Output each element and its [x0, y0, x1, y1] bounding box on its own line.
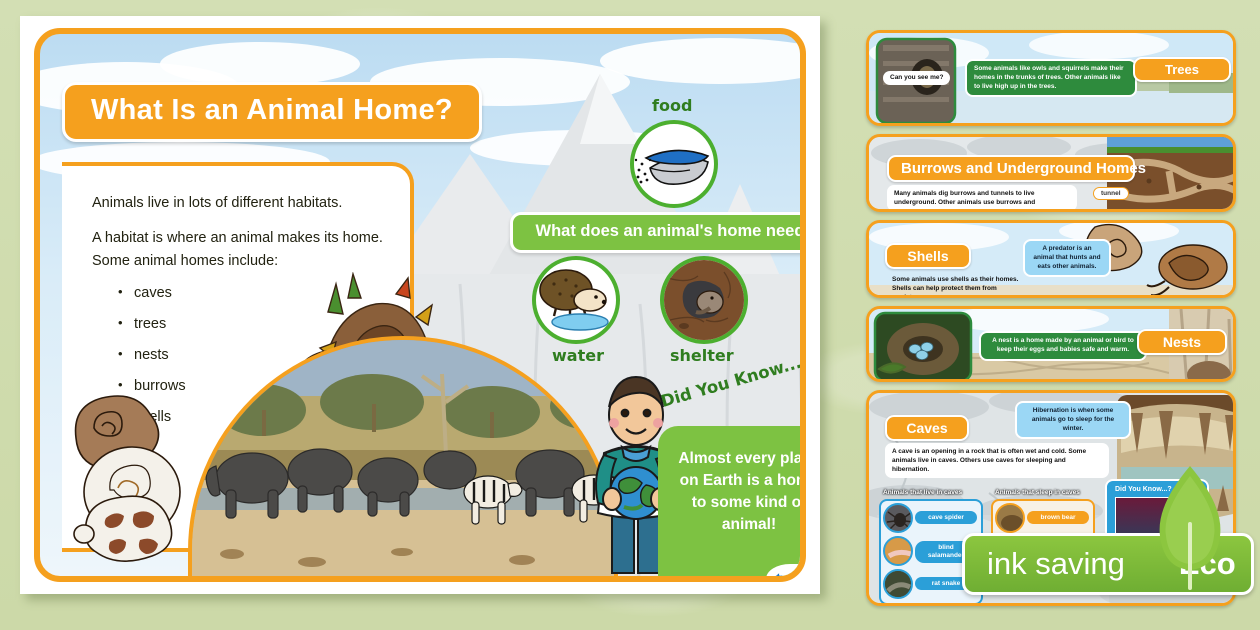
definition-predator: A predator is an animal that hunts and e… — [1023, 239, 1111, 277]
eco-ink-label: ink saving — [987, 546, 1125, 582]
hedgehog-drinking-icon — [536, 260, 616, 340]
need-label-food: food — [652, 96, 692, 115]
animal-photo-cave-spider — [883, 503, 913, 533]
mole-burrow-icon — [664, 260, 744, 340]
did-you-know-text: Almost every place on Earth is a home to… — [678, 450, 806, 533]
thumbnail-card-shells[interactable]: Shells Some animals use shells as their … — [866, 220, 1236, 298]
animal-photo-brown-bear — [995, 503, 1025, 533]
shells-illustration — [58, 386, 208, 576]
needs-heading: What does an animal's home need? — [510, 212, 806, 253]
main-poster: What Is an Animal Home? Animals live in … — [20, 16, 820, 594]
thumbnail-body-trees: Some animals like owls and squirrels mak… — [965, 59, 1137, 97]
thumbnail-title-caves: Caves — [885, 415, 969, 441]
thumbnail-title-burrows: Burrows and Underground Homes — [887, 155, 1135, 182]
animal-label-cave-spider: cave spider — [915, 511, 977, 524]
column-heading-live-in-caves: Animals that live in caves — [883, 489, 962, 496]
callout-tunnel: tunnel — [1093, 187, 1129, 200]
thumbnail-body-burrows: Many animals dig burrows and tunnels to … — [887, 185, 1077, 211]
thumbnail-body-caves: A cave is an opening in a rock that is o… — [885, 443, 1109, 478]
thumbnail-title-trees: Trees — [1133, 57, 1231, 82]
need-circle-water — [532, 256, 620, 344]
column-heading-sleep-in-caves: Animals that sleep in caves — [995, 489, 1080, 496]
thumbnail-card-nests[interactable]: A nest is a home made by an animal or bi… — [866, 306, 1236, 382]
animal-photo-rat-snake — [883, 569, 913, 599]
thumbnail-card-burrows[interactable]: Burrows and Underground Homes Many anima… — [866, 134, 1236, 212]
page-title: What Is an Animal Home? — [62, 82, 482, 142]
animal-label-brown-bear: brown bear — [1027, 511, 1089, 524]
need-circle-food — [630, 120, 718, 208]
definition-hibernation: Hibernation is when some animals go to s… — [1015, 401, 1131, 439]
leaf-icon — [1152, 462, 1228, 592]
poster-content-frame: What Is an Animal Home? Animals live in … — [34, 28, 806, 582]
intro-paragraph-1: Animals live in lots of different habita… — [92, 192, 394, 214]
animal-photo-blind-salamander — [883, 536, 913, 566]
twinkl-logo: twinkl — [766, 564, 806, 582]
thumbnail-body-nests: A nest is a home made by an animal or bi… — [979, 331, 1147, 361]
thumbnail-card-trees[interactable]: Can you see me? Some animals like owls a… — [866, 30, 1236, 126]
speech-bubble-trees: Can you see me? — [883, 71, 950, 85]
savanna-photo — [188, 336, 618, 576]
thumbnail-title-shells: Shells — [885, 243, 971, 269]
thumbnail-body-shells: Some animals use shells as their homes. … — [885, 271, 1037, 298]
need-circle-shelter — [660, 256, 748, 344]
did-you-know-box: Almost every place on Earth is a home to… — [658, 426, 806, 582]
thumbnail-title-nests: Nests — [1137, 329, 1227, 355]
whale-icon — [634, 124, 714, 204]
intro-paragraph-2: A habitat is where an animal makes its h… — [92, 227, 394, 272]
